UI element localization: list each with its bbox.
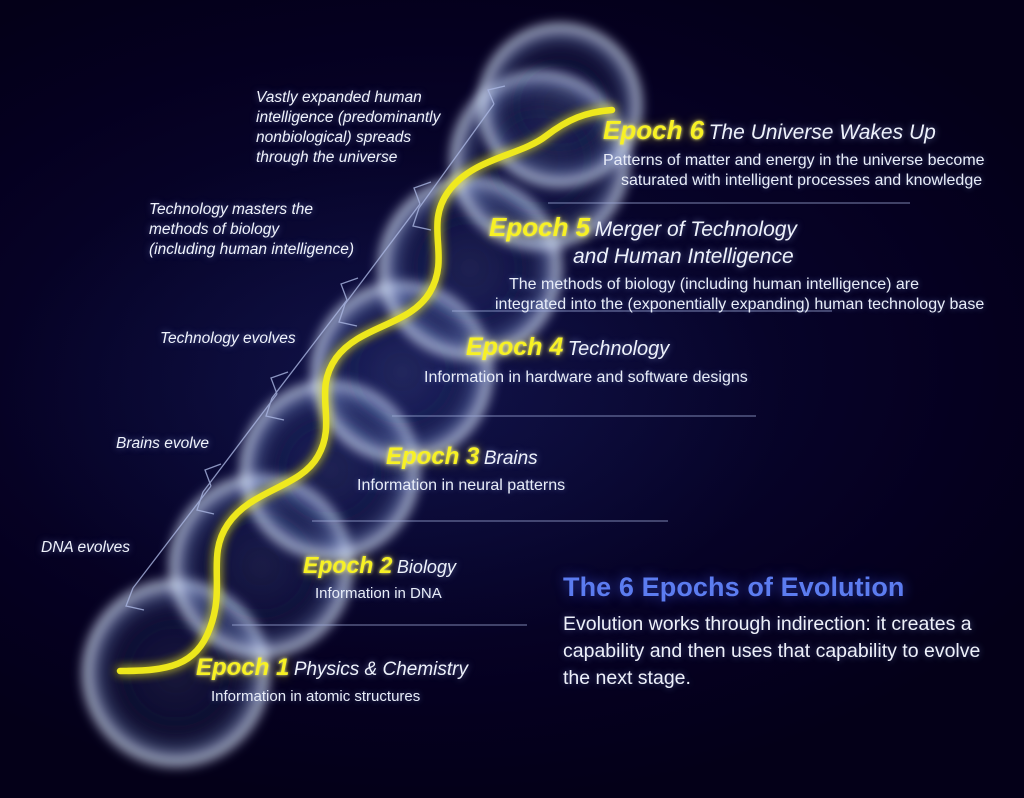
annotation-line: Brains evolve bbox=[116, 434, 209, 454]
epoch-4-description: Information in hardware and software des… bbox=[424, 369, 748, 387]
page-title: The 6 Epochs of Evolution bbox=[563, 572, 993, 603]
annotation-brains-evolve: Brains evolve bbox=[116, 434, 209, 454]
epoch-1-title: Epoch 1 Physics & Chemistry bbox=[196, 654, 468, 682]
epoch-3-number: Epoch 3 bbox=[386, 443, 479, 470]
annotation-biology-methods: Technology masters the methods of biolog… bbox=[149, 200, 354, 260]
annotation-universe-spread: Vastly expanded human intelligence (pred… bbox=[256, 88, 440, 168]
epoch-1-number: Epoch 1 bbox=[196, 654, 289, 681]
epoch-5-block: Epoch 5 Merger of Technology and Human I… bbox=[489, 212, 984, 314]
epoch-5-description-line-1: The methods of biology (including human … bbox=[509, 276, 984, 294]
epoch-3-title: Epoch 3 Brains bbox=[386, 443, 565, 471]
epoch-2-block: Epoch 2 Biology Information in DNA bbox=[303, 552, 456, 602]
bracket-brains bbox=[197, 372, 288, 514]
annotation-line: Vastly expanded human bbox=[256, 88, 440, 108]
epoch-4-subtitle: Technology bbox=[568, 338, 670, 360]
epoch-1-description: Information in atomic structures bbox=[211, 688, 468, 705]
epoch-4-number: Epoch 4 bbox=[466, 333, 563, 361]
epoch-5-subtitle: Merger of Technology bbox=[595, 218, 797, 241]
annotation-line: (including human intelligence) bbox=[149, 240, 354, 260]
annotation-technology-evolves: Technology evolves bbox=[160, 329, 296, 349]
annotation-line: Technology evolves bbox=[160, 329, 296, 349]
bracket-dna bbox=[126, 464, 221, 610]
annotation-line: DNA evolves bbox=[41, 538, 130, 558]
epoch-3-subtitle: Brains bbox=[484, 448, 538, 469]
title-block: The 6 Epochs of Evolution Evolution work… bbox=[563, 572, 993, 692]
epoch-6-subtitle: The Universe Wakes Up bbox=[709, 121, 936, 144]
epoch-5-number: Epoch 5 bbox=[489, 212, 590, 242]
epoch-6-block: Epoch 6 The Universe Wakes Up Patterns o… bbox=[603, 115, 985, 190]
epoch-1-subtitle: Physics & Chemistry bbox=[294, 659, 468, 680]
epoch-5-title: Epoch 5 Merger of Technology bbox=[489, 212, 984, 243]
annotation-line: methods of biology bbox=[149, 220, 354, 240]
epoch-6-description-line-1: Patterns of matter and energy in the uni… bbox=[603, 152, 985, 170]
annotation-line: Technology masters the bbox=[149, 200, 354, 220]
epoch-5-description-line-2: integrated into the (exponentially expan… bbox=[495, 296, 984, 314]
epoch-4-block: Epoch 4 Technology Information in hardwa… bbox=[466, 333, 748, 387]
epoch-3-description: Information in neural patterns bbox=[357, 477, 565, 495]
epoch-2-number: Epoch 2 bbox=[303, 552, 392, 578]
annotation-dna-evolves: DNA evolves bbox=[41, 538, 130, 558]
epoch-4-title: Epoch 4 Technology bbox=[466, 333, 748, 362]
epoch-2-description: Information in DNA bbox=[315, 585, 456, 602]
annotation-line: nonbiological) spreads bbox=[256, 128, 440, 148]
epoch-6-number: Epoch 6 bbox=[603, 115, 704, 145]
epoch-1-block: Epoch 1 Physics & Chemistry Information … bbox=[196, 654, 468, 705]
epoch-3-block: Epoch 3 Brains Information in neural pat… bbox=[386, 443, 565, 495]
epoch-2-title: Epoch 2 Biology bbox=[303, 552, 456, 579]
bracket-technology bbox=[266, 278, 358, 420]
epoch-6-title: Epoch 6 The Universe Wakes Up bbox=[603, 115, 985, 146]
epoch-6-description-line-2: saturated with intelligent processes and… bbox=[621, 172, 985, 190]
page-subtitle: Evolution works through indirection: it … bbox=[563, 611, 993, 692]
annotation-line: through the universe bbox=[256, 148, 440, 168]
epoch-5-subtitle-line-2: and Human Intelligence bbox=[573, 245, 984, 269]
epochs-of-evolution-infographic: Vastly expanded human intelligence (pred… bbox=[0, 0, 1024, 798]
annotation-line: intelligence (predominantly bbox=[256, 108, 440, 128]
epoch-2-subtitle: Biology bbox=[397, 557, 456, 577]
